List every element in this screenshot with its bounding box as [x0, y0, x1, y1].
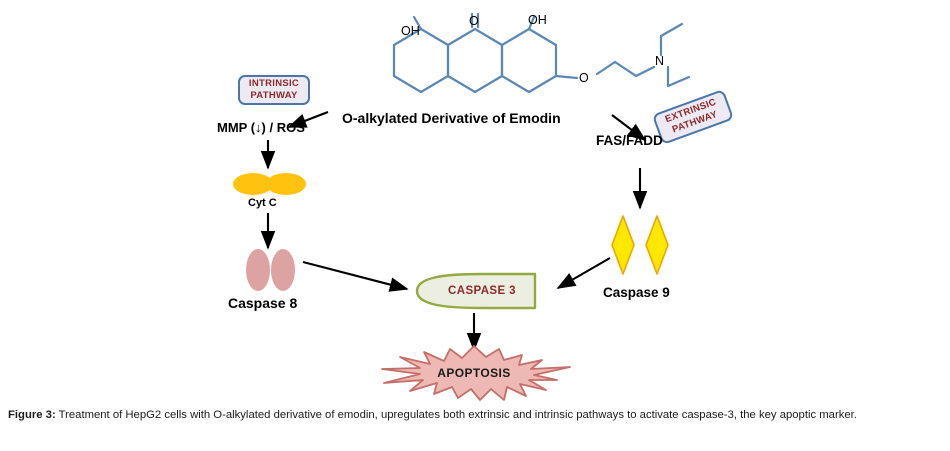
- molecule-ring-middle: [448, 29, 502, 92]
- figure-container: OH O OH O N INTRINSIC PATHWAY EXTRINSIC …: [0, 0, 950, 451]
- cytc-shape: [233, 173, 306, 195]
- fas-fadd-label: FAS/FADD: [596, 133, 663, 148]
- caspase3-shape: [415, 272, 549, 310]
- figure-caption-prefix: Figure 3:: [8, 409, 56, 421]
- molecule-label-o-ether: O: [579, 71, 589, 85]
- caspase9-shape: [612, 216, 668, 274]
- molecule-ring-right: [502, 29, 556, 92]
- molecule-bond-to-ether-o: [556, 76, 577, 78]
- molecule-label-o-ketone: O: [469, 14, 479, 28]
- figure-caption: Figure 3: Treatment of HepG2 cells with …: [8, 408, 944, 423]
- molecule-bond-ch2-ch2: [615, 62, 636, 76]
- molecule-bond-ch2-n: [636, 67, 654, 76]
- intrinsic-pathway-box: INTRINSIC PATHWAY: [238, 75, 310, 105]
- molecule-bond-n-et2b: [668, 77, 689, 86]
- apoptosis-shape: [374, 344, 574, 402]
- diagram-arrows: [268, 112, 645, 350]
- mmp-ros-label: MMP (↓) / ROS: [217, 120, 305, 135]
- arrow-caspase9-to-caspase3: [558, 258, 610, 288]
- pathway-diagram: OH O OH O N INTRINSIC PATHWAY EXTRINSIC …: [0, 0, 950, 400]
- intrinsic-pathway-line1: INTRINSIC: [249, 78, 299, 90]
- molecule-ring-left: [394, 29, 448, 92]
- cytc-label: Cyt C: [248, 197, 277, 209]
- molecule-label-oh-right: OH: [528, 13, 547, 27]
- intrinsic-pathway-line2: PATHWAY: [250, 90, 297, 102]
- molecule-label-n: N: [655, 54, 664, 68]
- arrow-caspase8-to-caspase3: [303, 262, 407, 289]
- molecule-bond-n-et1b: [661, 24, 682, 36]
- caspase9-label: Caspase 9: [603, 285, 670, 300]
- emodin-central-label: O-alkylated Derivative of Emodin: [342, 110, 561, 126]
- figure-caption-text: Treatment of HepG2 cells with O-alkylate…: [56, 409, 857, 421]
- caspase8-shape: [246, 249, 295, 291]
- molecule-bond-o-ch2: [597, 62, 615, 74]
- diagram-canvas: [0, 0, 950, 400]
- molecule-label-oh-left: OH: [401, 24, 420, 38]
- caspase8-label: Caspase 8: [228, 295, 297, 311]
